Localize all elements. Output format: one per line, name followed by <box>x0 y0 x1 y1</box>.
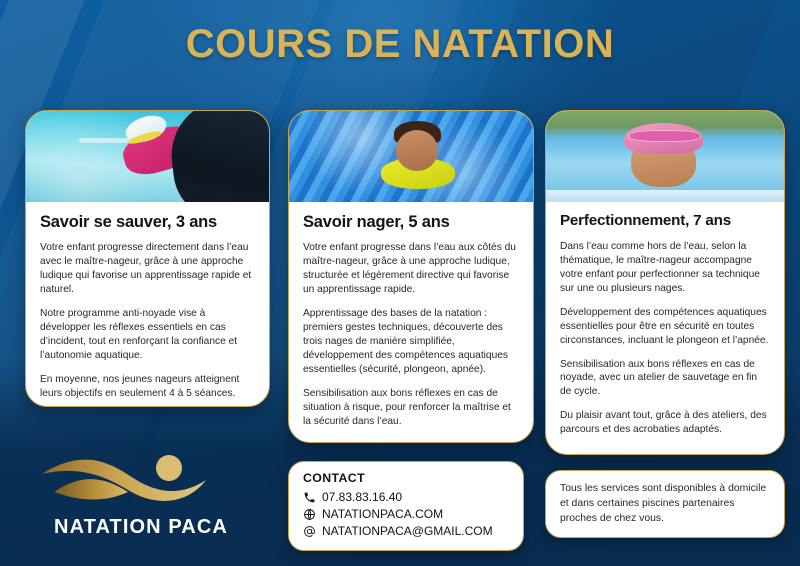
course-paragraph: Dans l’eau comme hors de l’eau, selon la… <box>560 240 770 296</box>
course-card-title: Savoir se sauver, 3 ans <box>40 213 255 231</box>
contact-email-value: NATATIONPACA@GMAIL.COM <box>322 523 493 540</box>
course-photo-savoir-nager <box>288 110 534 202</box>
contact-heading: CONTACT <box>303 471 509 485</box>
at-icon <box>303 525 316 538</box>
course-paragraph: Notre programme anti-noyade vise à dével… <box>40 307 255 363</box>
services-note-box: Tous les services sont disponibles à dom… <box>545 470 785 538</box>
course-card: Savoir nager, 5 ans Votre enfant progres… <box>288 110 534 443</box>
course-paragraph: En moyenne, nos jeunes nageurs atteignen… <box>40 373 255 401</box>
contact-row-email[interactable]: NATATIONPACA@GMAIL.COM <box>303 523 509 540</box>
course-paragraph: Votre enfant progresse dans l’eau aux cô… <box>303 241 519 297</box>
contact-website-value: NATATIONPACA.COM <box>322 506 443 523</box>
course-paragraph: Du plaisir avant tout, grâce à des ateli… <box>560 409 770 437</box>
course-paragraph: Développement des compétences aquatiques… <box>560 306 770 348</box>
phone-icon <box>303 491 316 504</box>
course-paragraph: Sensibilisation aux bons réflexes en cas… <box>560 358 770 400</box>
logo-text: NATATION PACA <box>36 516 246 539</box>
poster-root: COURS DE NATATION Savoir se sauver, 3 an… <box>0 0 800 566</box>
course-photo-perfectionnement <box>545 110 785 202</box>
goggles-shape <box>629 130 701 142</box>
course-card: Perfectionnement, 7 ans Dans l’eau comme… <box>545 110 785 455</box>
course-paragraph: Votre enfant progresse directement dans … <box>40 241 255 297</box>
child-face-shape <box>396 130 438 170</box>
wave-swimmer-icon <box>36 452 246 514</box>
globe-icon <box>303 508 316 521</box>
contact-phone-value: 07.83.83.16.40 <box>322 489 402 506</box>
course-photo-savoir-se-sauver <box>25 110 270 202</box>
course-card-title: Savoir nager, 5 ans <box>303 213 519 231</box>
course-card: Savoir se sauver, 3 ans Votre enfant pro… <box>25 110 270 407</box>
logo: NATATION PACA <box>36 452 246 544</box>
course-paragraph: Apprentissage des bases de la natation :… <box>303 307 519 377</box>
services-note-text: Tous les services sont disponibles à dom… <box>560 483 766 524</box>
pool-edge-shape <box>545 190 785 202</box>
pool-lane-line <box>79 138 133 144</box>
page-title: COURS DE NATATION <box>0 22 800 67</box>
contact-row-phone[interactable]: 07.83.83.16.40 <box>303 489 509 506</box>
contact-row-website[interactable]: NATATIONPACA.COM <box>303 506 509 523</box>
course-card-title: Perfectionnement, 7 ans <box>560 213 770 230</box>
contact-box: CONTACT 07.83.83.16.40 NATATIONPACA.COM <box>288 461 524 551</box>
course-paragraph: Sensibilisation aux bons réflexes en cas… <box>303 387 519 429</box>
